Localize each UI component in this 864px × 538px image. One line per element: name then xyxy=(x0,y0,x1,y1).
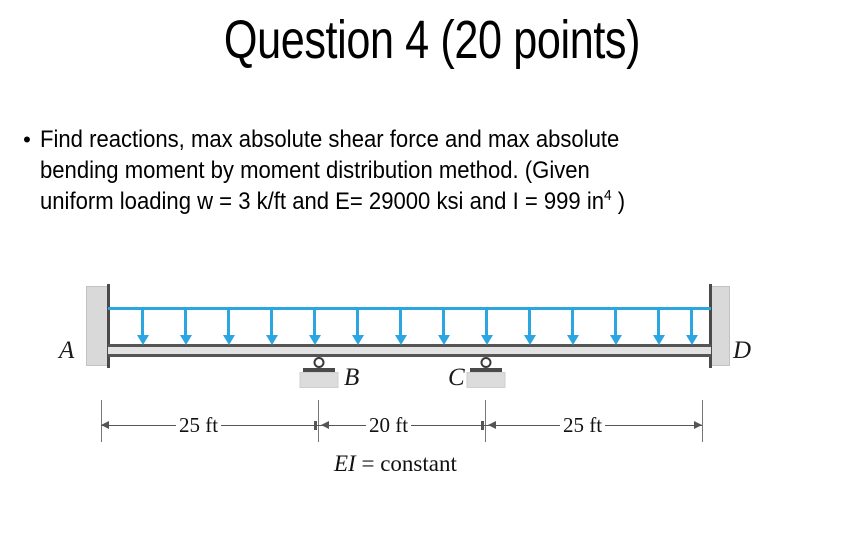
load-arrow xyxy=(614,309,617,336)
load-arrow xyxy=(141,309,144,336)
load-arrow xyxy=(442,309,445,336)
bullet-marker-icon: • xyxy=(14,124,40,155)
ei-symbol: EI xyxy=(334,451,356,476)
fixed-support-wall-right xyxy=(711,286,730,366)
ei-equals-constant: = constant xyxy=(356,451,457,476)
question-text-line-2: bending moment by moment distribution me… xyxy=(40,155,785,186)
dimension-label-2: 20 ft xyxy=(366,415,411,436)
load-arrow xyxy=(571,309,574,336)
ei-constant-note: EI = constant xyxy=(334,452,457,475)
load-arrow xyxy=(657,309,660,336)
dimension-extension-line xyxy=(485,400,486,442)
distributed-load-rail xyxy=(108,307,711,310)
question-text-line-3-prefix: uniform loading w = 3 k/ft and E= 29000 … xyxy=(40,188,604,215)
load-arrow xyxy=(313,309,316,336)
load-arrow xyxy=(227,309,230,336)
question-text-line-3-suffix: ) xyxy=(612,188,625,215)
roller-support-c xyxy=(466,357,506,389)
dimension-tick xyxy=(314,421,317,430)
node-label-c: C xyxy=(448,365,465,390)
roller-support-b xyxy=(299,357,339,389)
dimension-tick xyxy=(481,421,484,430)
dimension-arrow-right xyxy=(694,421,702,429)
roller-circle-icon xyxy=(314,357,325,368)
dimension-extension-line xyxy=(318,400,319,442)
roller-base xyxy=(467,372,506,388)
dimension-label-1: 25 ft xyxy=(176,415,221,436)
beam-member xyxy=(108,344,711,357)
load-arrow xyxy=(690,309,693,336)
load-arrow xyxy=(399,309,402,336)
node-label-d: D xyxy=(733,338,751,363)
load-arrow xyxy=(270,309,273,336)
dimension-arrow-left xyxy=(321,421,329,429)
beam-diagram: A B C D 25 ft 20 ft 25 ft EI = constant xyxy=(0,270,864,500)
node-label-b: B xyxy=(344,365,359,390)
dimension-arrow-left xyxy=(101,421,109,429)
page-title: Question 4 (20 points) xyxy=(86,8,777,72)
question-text-line-1: Find reactions, max absolute shear force… xyxy=(40,124,785,155)
dimension-extension-line xyxy=(702,400,703,442)
load-arrow xyxy=(485,309,488,336)
roller-base xyxy=(300,372,339,388)
load-arrow xyxy=(528,309,531,336)
question-body: • Find reactions, max absolute shear for… xyxy=(14,124,850,217)
load-arrow xyxy=(184,309,187,336)
roller-circle-icon xyxy=(481,357,492,368)
dimension-label-3: 25 ft xyxy=(560,415,605,436)
fixed-support-wall-left xyxy=(86,286,109,366)
question-text: Find reactions, max absolute shear force… xyxy=(40,124,785,217)
node-label-a: A xyxy=(59,338,74,363)
question-text-line-3: uniform loading w = 3 k/ft and E= 29000 … xyxy=(40,186,785,217)
load-arrow xyxy=(356,309,359,336)
dimension-arrow-left xyxy=(488,421,496,429)
